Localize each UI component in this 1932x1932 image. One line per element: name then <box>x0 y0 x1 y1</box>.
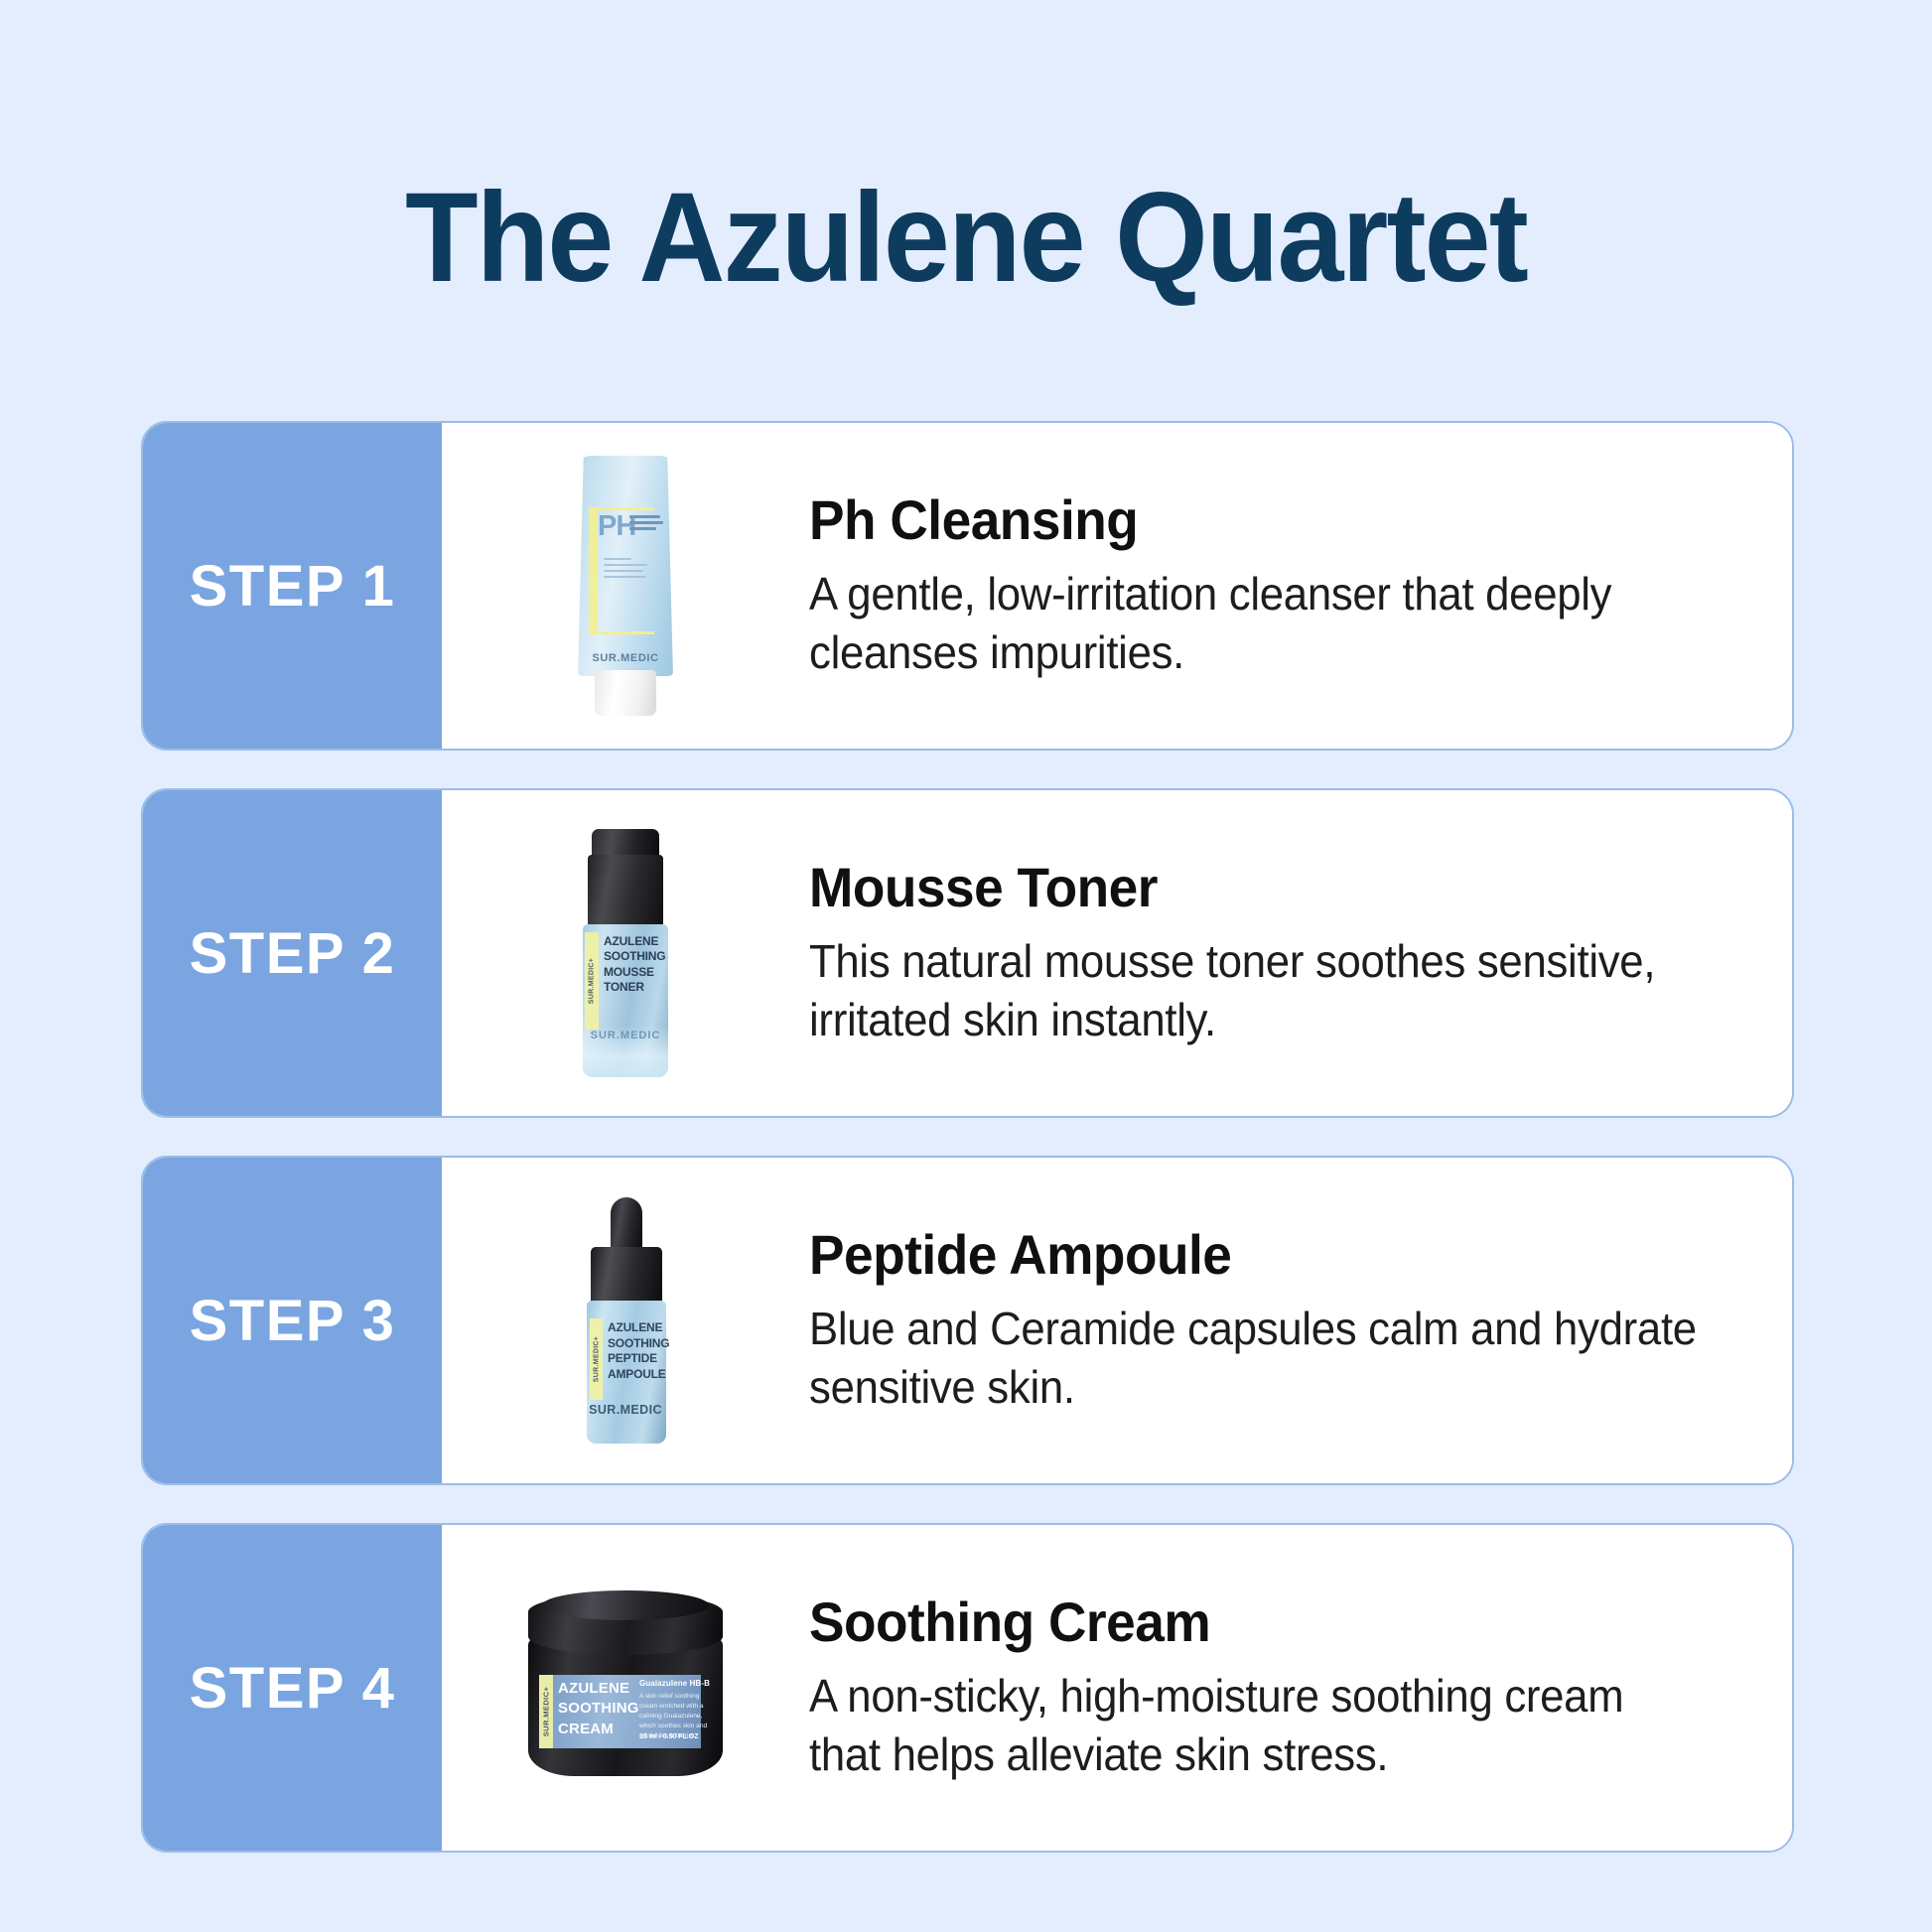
toner-name-block: AZULENE SOOTHING MOUSSE TONER <box>604 934 665 995</box>
step-badge-4: STEP 4 <box>143 1525 442 1851</box>
product-image-1: PH SUR.MEDIC <box>442 423 809 749</box>
tube-brand-text: SUR.MEDIC <box>572 652 679 664</box>
jar-name-line-2: SOOTHING <box>558 1699 639 1719</box>
product-text-4: Soothing Cream A non-sticky, high-moistu… <box>809 1591 1792 1783</box>
tube-micro-copy <box>604 558 649 582</box>
pump-head <box>592 829 659 857</box>
pump-bottle-graphic: SUR.MEDIC+ AZULENE SOOTHING MOUSSE TONER… <box>566 829 685 1077</box>
product-description-4: A non-sticky, high-moisture soothing cre… <box>809 1667 1706 1784</box>
jar-volume-text: 15 ml / 0.50 FL.OZ <box>639 1733 699 1740</box>
step-label-2: STEP 2 <box>190 920 396 987</box>
ampoule-name-line-3: PEPTIDE <box>608 1351 669 1367</box>
tube-name-lines <box>629 515 667 533</box>
step-badge-3: STEP 3 <box>143 1158 442 1483</box>
product-description-3: Blue and Ceramide capsules calm and hydr… <box>809 1300 1706 1417</box>
step-content-1: PH SUR.MEDIC Ph Cleansing A gentle, low-… <box>442 423 1792 749</box>
step-card-1: STEP 1 PH <box>141 421 1794 751</box>
product-text-3: Peptide Ampoule Blue and Ceramide capsul… <box>809 1224 1792 1416</box>
toner-name-line-3: MOUSSE <box>604 965 665 980</box>
toner-brand-text: SUR.MEDIC <box>566 1030 685 1041</box>
ampoule-name-line-4: AMPOULE <box>608 1367 669 1383</box>
jar-name-line-3: CREAM <box>558 1720 639 1739</box>
dropper-bulb <box>611 1197 642 1253</box>
cleanser-tube-graphic: PH SUR.MEDIC <box>572 456 679 716</box>
toner-name-line-1: AZULENE <box>604 934 665 949</box>
step-badge-1: STEP 1 <box>143 423 442 749</box>
toner-side-brand: SUR.MEDIC+ <box>589 958 596 1004</box>
step-label-3: STEP 3 <box>190 1288 396 1354</box>
step-content-3: SUR.MEDIC+ AZULENE SOOTHING PEPTIDE AMPO… <box>442 1158 1792 1483</box>
pump-collar <box>588 855 663 926</box>
step-content-2: SUR.MEDIC+ AZULENE SOOTHING MOUSSE TONER… <box>442 790 1792 1116</box>
jar-ingredient-heading: Guaiazulene HB-B <box>639 1679 710 1688</box>
product-image-3: SUR.MEDIC+ AZULENE SOOTHING PEPTIDE AMPO… <box>442 1158 809 1483</box>
product-description-2: This natural mousse toner soothes sensit… <box>809 932 1706 1049</box>
cream-jar-graphic: SUR.MEDIC+ AZULENE SOOTHING CREAM Guaiaz… <box>522 1593 729 1782</box>
product-title-3: Peptide Ampoule <box>809 1224 1706 1286</box>
ampoule-name-line-2: SOOTHING <box>608 1336 669 1352</box>
jar-name-block: AZULENE SOOTHING CREAM <box>558 1679 639 1739</box>
ampoule-name-block: AZULENE SOOTHING PEPTIDE AMPOULE <box>608 1320 669 1382</box>
ampoule-brand-text: SUR.MEDIC <box>567 1403 684 1417</box>
steps-list: STEP 1 PH <box>141 421 1794 1853</box>
product-title-2: Mousse Toner <box>809 857 1706 918</box>
product-title-4: Soothing Cream <box>809 1591 1706 1653</box>
jar-lid-top <box>542 1590 709 1620</box>
jar-name-line-1: AZULENE <box>558 1679 639 1699</box>
jar-side-brand: SUR.MEDIC+ <box>542 1687 551 1736</box>
tube-accent-stripe <box>589 507 598 634</box>
step-card-2: STEP 2 SUR.MEDIC+ AZULENE SOOTHING <box>141 788 1794 1118</box>
ampoule-side-accent-label: SUR.MEDIC+ <box>590 1318 603 1400</box>
product-description-1: A gentle, low-irritation cleanser that d… <box>809 565 1706 682</box>
toner-name-line-4: TONER <box>604 980 665 995</box>
product-image-4: SUR.MEDIC+ AZULENE SOOTHING CREAM Guaiaz… <box>442 1525 809 1851</box>
product-text-1: Ph Cleansing A gentle, low-irritation cl… <box>809 489 1792 681</box>
product-title-1: Ph Cleansing <box>809 489 1706 551</box>
step-content-4: SUR.MEDIC+ AZULENE SOOTHING CREAM Guaiaz… <box>442 1525 1792 1851</box>
infographic-page: The Azulene Quartet STEP 1 PH <box>0 0 1932 1932</box>
toner-name-line-2: SOOTHING <box>604 949 665 964</box>
jar-side-accent-label: SUR.MEDIC+ <box>539 1675 553 1748</box>
tube-cap <box>595 670 656 716</box>
tube-accent-bottom-rule <box>589 631 654 634</box>
product-text-2: Mousse Toner This natural mousse toner s… <box>809 857 1792 1048</box>
product-image-2: SUR.MEDIC+ AZULENE SOOTHING MOUSSE TONER… <box>442 790 809 1116</box>
step-label-4: STEP 4 <box>190 1655 396 1722</box>
page-title: The Azulene Quartet <box>58 175 1873 302</box>
toner-side-accent-label: SUR.MEDIC+ <box>585 932 599 1030</box>
step-label-1: STEP 1 <box>190 553 396 620</box>
ampoule-name-line-1: AZULENE <box>608 1320 669 1336</box>
dropper-bottle-graphic: SUR.MEDIC+ AZULENE SOOTHING PEPTIDE AMPO… <box>567 1197 684 1444</box>
step-card-3: STEP 3 SUR.MEDIC+ AZULENE SOOTHING <box>141 1156 1794 1485</box>
ampoule-side-brand: SUR.MEDIC+ <box>593 1336 600 1382</box>
dropper-collar <box>591 1247 662 1305</box>
step-card-4: STEP 4 SUR.MEDIC+ AZULENE SOOTHIN <box>141 1523 1794 1853</box>
step-badge-2: STEP 2 <box>143 790 442 1116</box>
